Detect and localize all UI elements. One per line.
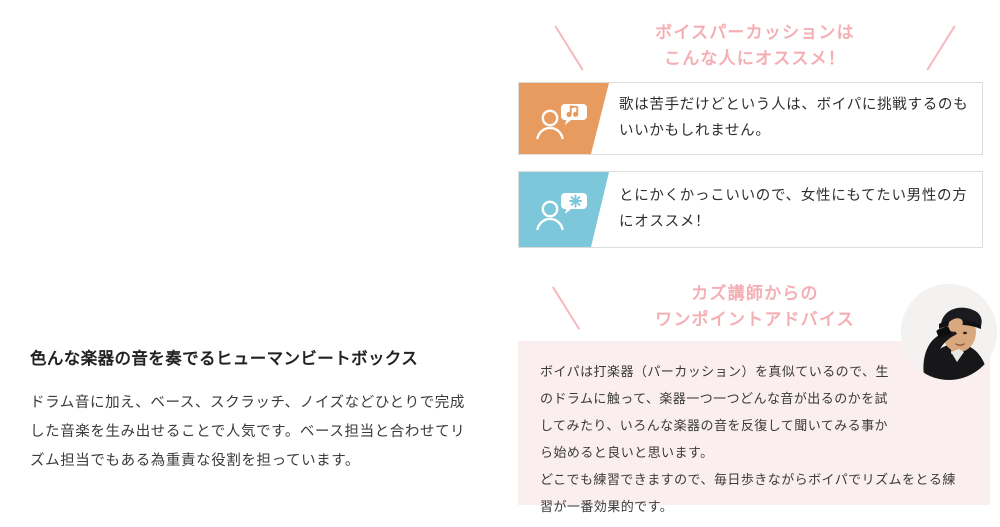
recommendation-card-text: 歌は苦手だけどという人は、ボイパに挑戦するのもいいかもしれません。 (619, 92, 970, 146)
recommendation-card[interactable]: とにかくかっこいいので、女性にもてたい男性の方にオススメ！ (518, 171, 983, 248)
left-content-column: 色んな楽器の音を奏でるヒューマンビートボックス ドラム音に加え、ベース、スクラッ… (0, 0, 500, 527)
recommendation-card-text: とにかくかっこいいので、女性にもてたい男性の方にオススメ！ (619, 183, 970, 237)
advice-paragraph: ボイパは打楽器（パーカッション）を真似ているので、生のドラムに触って、楽器一つ一… (540, 359, 895, 467)
right-content-column: ボイスパーカッションは こんな人にオススメ！ 歌は苦手だけどという人は、ボイパに… (510, 0, 1000, 527)
beatbox-text-block: 色んな楽器の音を奏でるヒューマンビートボックス ドラム音に加え、ベース、スクラッ… (30, 348, 480, 476)
person-music-note-icon (533, 96, 591, 142)
recommendation-card[interactable]: 歌は苦手だけどという人は、ボイパに挑戦するのもいいかもしれません。 (518, 82, 983, 155)
beatbox-body-text: ドラム音に加え、ベース、スクラッチ、ノイズなどひとりで完成した音楽を生み出せるこ… (30, 389, 480, 476)
person-sparkle-icon (533, 187, 591, 233)
advice-paragraph: どこでも練習できますので、毎日歩きながらボイパでリズムをとる練習が一番効果的です… (540, 467, 968, 521)
recommendation-heading-line1: ボイスパーカッションは (510, 20, 1000, 46)
recommendation-icon-panel (519, 172, 609, 247)
advice-body: ボイパは打楽器（パーカッション）を真似ているので、生のドラムに触って、楽器一つ一… (540, 359, 968, 520)
recommendation-heading: ボイスパーカッションは こんな人にオススメ！ (510, 20, 1000, 73)
beatbox-heading: 色んな楽器の音を奏でるヒューマンビートボックス (30, 348, 480, 371)
recommendation-icon-panel (519, 83, 609, 154)
instructor-photo (901, 284, 997, 380)
instructor-portrait-image (901, 284, 997, 380)
